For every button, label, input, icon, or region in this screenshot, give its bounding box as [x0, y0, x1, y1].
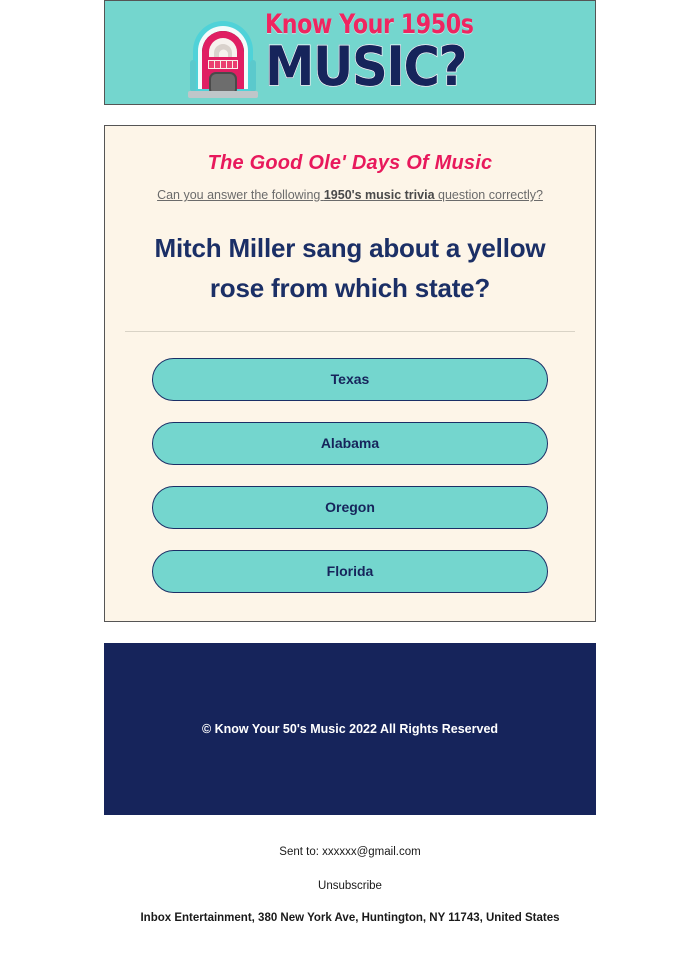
quiz-question: Mitch Miller sang about a yellow rose fr… — [135, 228, 565, 309]
answer-label-2: Alabama — [321, 435, 379, 451]
brand-logo-text: Know Your 1950s MUSIC? — [265, 11, 519, 94]
quiz-subtitle: Can you answer the following 1950's musi… — [121, 188, 579, 202]
answer-label-4: Florida — [327, 563, 374, 579]
quiz-subtitle-after: question correctly? — [435, 188, 543, 202]
quiz-title: The Good Ole' Days Of Music — [121, 152, 579, 175]
answer-options: Texas Alabama Oregon Florida — [121, 358, 579, 593]
answer-button-3[interactable]: Oregon — [152, 486, 548, 529]
answer-label-1: Texas — [331, 371, 370, 387]
logo-line-top: Know Your 1950s — [265, 11, 474, 38]
quiz-card: The Good Ole' Days Of Music Can you answ… — [104, 125, 596, 622]
quiz-subtitle-highlight: 1950's music trivia — [324, 188, 435, 202]
answer-button-2[interactable]: Alabama — [152, 422, 548, 465]
brand-logo: Know Your 1950s MUSIC? — [181, 4, 519, 102]
email-footer: Sent to: xxxxxx@gmail.com Unsubscribe In… — [70, 815, 630, 924]
logo-line-bottom: MUSIC? — [265, 40, 466, 94]
unsubscribe-link[interactable]: Unsubscribe — [70, 880, 630, 892]
section-divider — [125, 331, 575, 332]
copyright-bar: © Know Your 50's Music 2022 All Rights R… — [104, 643, 596, 815]
copyright-text: © Know Your 50's Music 2022 All Rights R… — [202, 722, 498, 736]
answer-button-1[interactable]: Texas — [152, 358, 548, 401]
sent-to-text: Sent to: xxxxxx@gmail.com — [70, 845, 630, 860]
answer-button-4[interactable]: Florida — [152, 550, 548, 593]
header-banner: Know Your 1950s MUSIC? — [104, 0, 596, 105]
jukebox-icon — [181, 5, 265, 101]
email-body: Know Your 1950s MUSIC? The Good Ole' Day… — [0, 0, 700, 924]
sender-address: Inbox Entertainment, 380 New York Ave, H… — [70, 912, 630, 924]
answer-label-3: Oregon — [325, 499, 375, 515]
quiz-subtitle-before: Can you answer the following — [157, 188, 324, 202]
